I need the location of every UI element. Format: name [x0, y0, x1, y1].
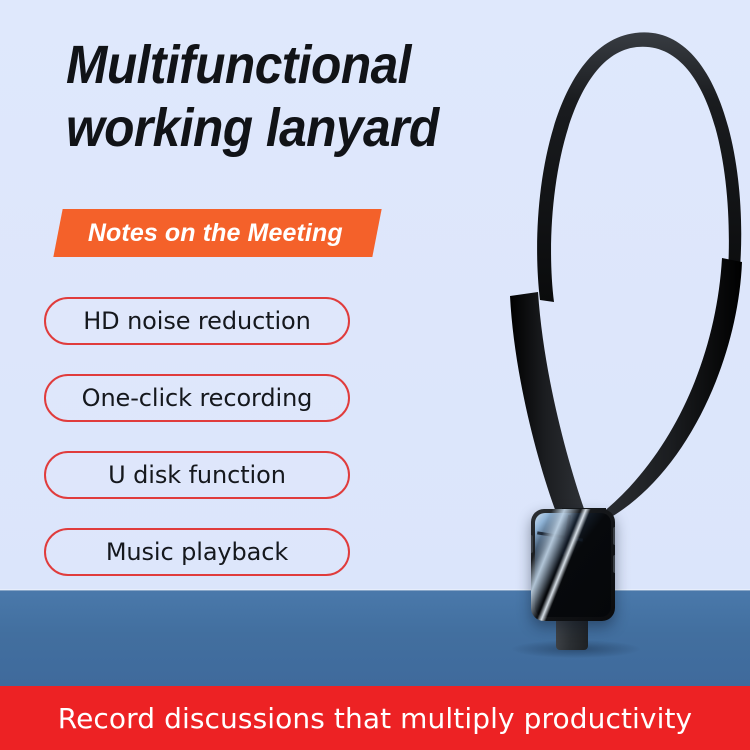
feature-pill-one-click-recording[interactable]: One-click recording: [44, 374, 350, 422]
feature-pill-u-disk-function[interactable]: U disk function: [44, 451, 350, 499]
product-poster: Multifunctional working lanyard Notes on…: [0, 0, 750, 750]
headline: Multifunctional working lanyard: [66, 34, 452, 160]
feature-pill-label: HD noise reduction: [83, 307, 311, 335]
feature-pill-hd-noise-reduction[interactable]: HD noise reduction: [44, 297, 350, 345]
bottom-banner-text: Record discussions that multiply product…: [58, 702, 692, 735]
meeting-notes-badge-label: Notes on the Meeting: [88, 219, 343, 248]
feature-pill-label: Music playback: [106, 538, 288, 566]
headline-line-1: Multifunctional: [66, 34, 452, 97]
feature-pill-label: U disk function: [108, 461, 286, 489]
headline-line-2: working lanyard: [66, 97, 452, 160]
lanyard-strap-left: [510, 292, 588, 528]
device-side-button-left: [531, 535, 533, 553]
glass-highlight-streak: [531, 509, 580, 621]
meeting-notes-badge: Notes on the Meeting: [53, 209, 381, 257]
lanyard-loop: [537, 32, 741, 302]
feature-pill-music-playback[interactable]: Music playback: [44, 528, 350, 576]
device-glass-front: [535, 513, 611, 617]
device-side-button-right-bottom: [613, 555, 615, 573]
voice-recorder-device: [531, 509, 615, 621]
device-side-button-right-top: [613, 527, 615, 545]
lanyard-strap-right: [582, 258, 742, 528]
feature-pill-label: One-click recording: [82, 384, 313, 412]
bottom-banner: Record discussions that multiply product…: [0, 686, 750, 750]
